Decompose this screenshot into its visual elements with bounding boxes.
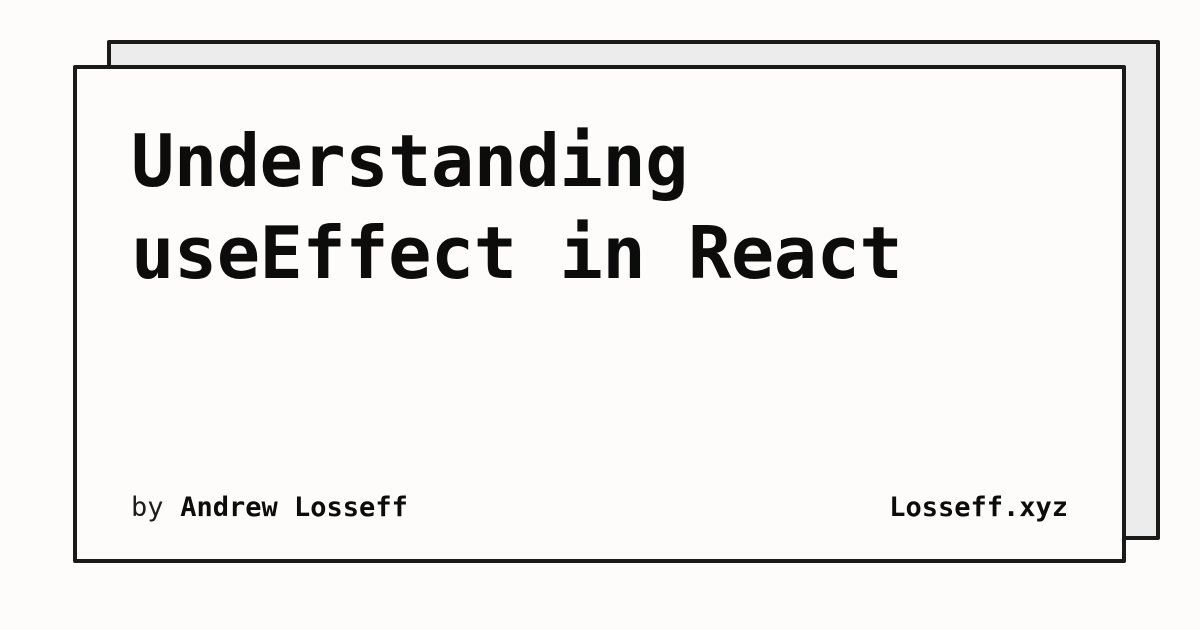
content-card: Understanding useEffect in React by Andr… [73,65,1126,563]
author-name: Andrew Losseff [180,494,408,521]
site-domain: Losseff.xyz [889,494,1068,521]
card-footer: by Andrew Losseff Losseff.xyz [131,494,1068,525]
og-card-canvas: Understanding useEffect in React by Andr… [0,0,1200,630]
page-title: Understanding useEffect in React [131,115,1068,299]
byline-prefix: by [131,494,164,521]
byline: by Andrew Losseff [131,494,408,521]
